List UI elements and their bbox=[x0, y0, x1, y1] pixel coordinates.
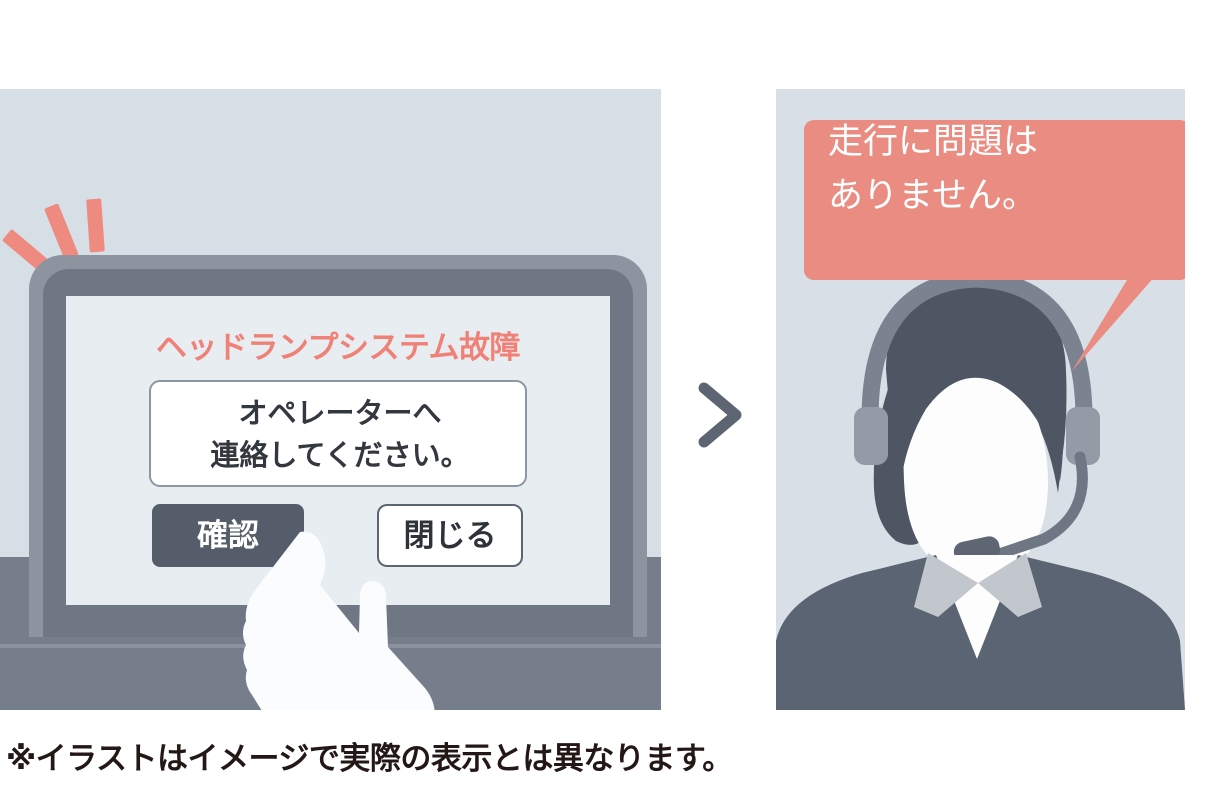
display-screen: ヘッドランプシステム故障 オペレーターへ 連絡してください。 確認 閉じる bbox=[66, 296, 610, 605]
message-box: オペレーターへ 連絡してください。 bbox=[149, 380, 527, 487]
message-text: オペレーターへ 連絡してください。 bbox=[151, 393, 529, 477]
confirm-button[interactable]: 確認 bbox=[152, 504, 304, 567]
chevron-right-icon bbox=[690, 380, 750, 450]
alert-title: ヘッドランプシステム故障 bbox=[66, 322, 610, 367]
speech-bubble-text: 走行に問題は ありません。 bbox=[828, 115, 1138, 223]
left-panel-vehicle-display: ヘッドランプシステム故障 オペレーターへ 連絡してください。 確認 閉じる bbox=[0, 89, 661, 710]
flash-mark-3-icon bbox=[86, 199, 105, 253]
speech-bubble-tail bbox=[1068, 275, 1158, 375]
close-button[interactable]: 閉じる bbox=[377, 504, 523, 567]
right-panel-operator: 走行に問題は ありません。 bbox=[776, 89, 1185, 710]
flash-mark-2-icon bbox=[44, 203, 79, 261]
dashboard-divider bbox=[0, 644, 661, 648]
disclaimer-caption: ※イラストはイメージで実際の表示とは異なります。 bbox=[6, 733, 733, 778]
illustration-stage: ヘッドランプシステム故障 オペレーターへ 連絡してください。 確認 閉じる bbox=[0, 0, 1216, 810]
